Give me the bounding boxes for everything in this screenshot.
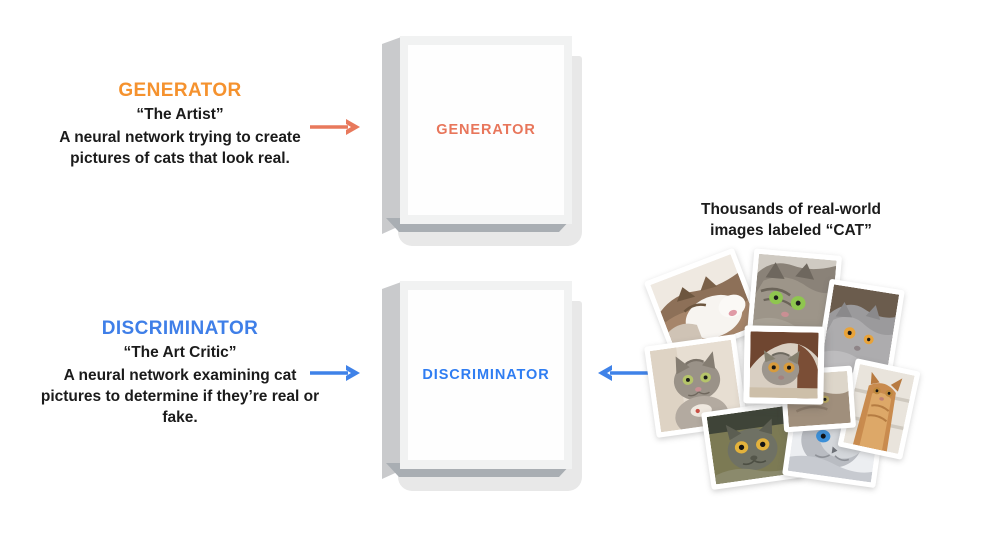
generator-nickname: “The Artist” <box>40 105 320 126</box>
generator-box: GENERATOR <box>382 36 582 246</box>
dataset-caption-line-2: images labeled “CAT” <box>665 221 917 242</box>
diagram-canvas: GENERATOR “The Artist” A neural network … <box>0 0 982 549</box>
generator-box-label: GENERATOR <box>436 122 535 138</box>
generator-description: A neural network trying to create pictur… <box>40 127 320 169</box>
cat-photo-collage <box>650 248 905 500</box>
discriminator-heading: DISCRIMINATOR <box>40 318 320 340</box>
generator-arrow-right-icon <box>308 114 364 145</box>
photo-cat-under-brown-blanket <box>743 325 824 404</box>
generator-description-block: GENERATOR “The Artist” A neural network … <box>40 80 320 169</box>
discriminator-nickname: “The Art Critic” <box>40 343 320 364</box>
discriminator-box: DISCRIMINATOR <box>382 281 582 491</box>
discriminator-arrow-right-icon <box>308 360 364 391</box>
discriminator-description-block: DISCRIMINATOR “The Art Critic” A neural … <box>40 318 320 428</box>
discriminator-description: A neural network examining cat pictures … <box>40 365 320 428</box>
photo-image <box>749 331 818 398</box>
dataset-caption: Thousands of real-world images labeled “… <box>665 200 917 242</box>
dataset-caption-line-1: Thousands of real-world <box>665 200 917 221</box>
discriminator-box-label: DISCRIMINATOR <box>422 367 549 383</box>
dataset-arrow-left-icon <box>598 360 650 391</box>
discriminator-box-panel: DISCRIMINATOR <box>408 290 564 460</box>
generator-box-panel: GENERATOR <box>408 45 564 215</box>
generator-heading: GENERATOR <box>40 80 320 102</box>
